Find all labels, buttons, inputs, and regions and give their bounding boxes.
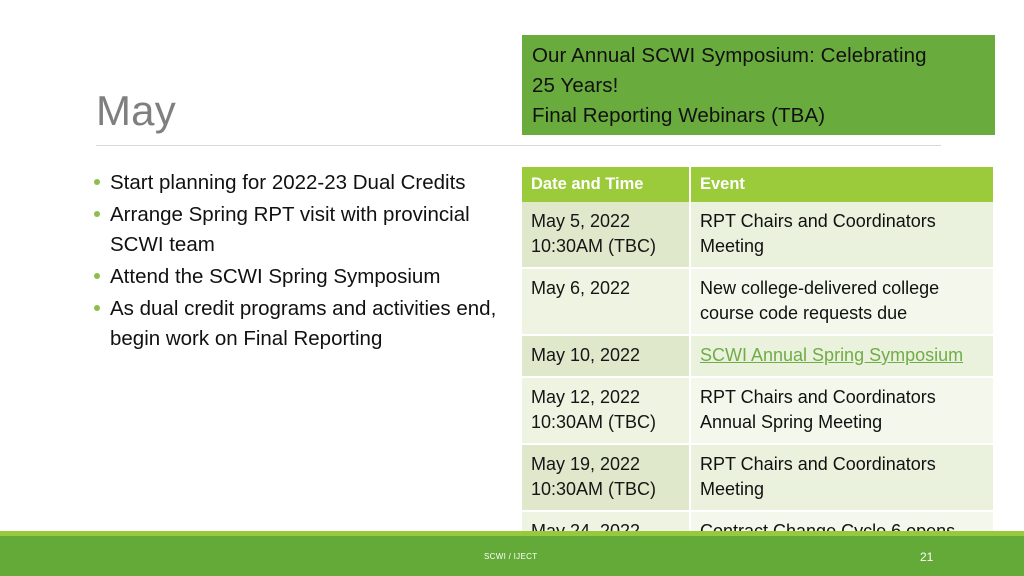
banner-line-1: Our Annual SCWI Symposium: Celebrating — [532, 41, 985, 71]
list-item: As dual credit programs and activities e… — [86, 294, 516, 354]
list-item: Arrange Spring RPT visit with provincial… — [86, 200, 516, 260]
highlight-banner: Our Annual SCWI Symposium: Celebrating 2… — [522, 35, 995, 135]
list-item-label: Arrange Spring RPT visit with provincial… — [110, 200, 516, 260]
table-row: May 12, 2022 10:30AM (TBC) RPT Chairs an… — [522, 377, 993, 444]
list-item-label: As dual credit programs and activities e… — [110, 294, 516, 354]
cell-event: RPT Chairs and Coordinators Annual Sprin… — [690, 377, 993, 444]
cell-event: SCWI Annual Spring Symposium — [690, 335, 993, 377]
list-item: Start planning for 2022-23 Dual Credits — [86, 168, 516, 198]
bullet-dot-icon — [86, 200, 110, 217]
banner-line-2: 25 Years! — [532, 71, 985, 101]
schedule-table: Date and Time Event May 5, 2022 10:30AM … — [522, 167, 993, 554]
cell-date: May 5, 2022 10:30AM (TBC) — [522, 202, 690, 268]
page-title: May — [96, 86, 176, 136]
bullet-dot-icon — [86, 262, 110, 279]
table-header-row: Date and Time Event — [522, 167, 993, 202]
cell-date: May 6, 2022 — [522, 268, 690, 335]
cell-date: May 19, 2022 10:30AM (TBC) — [522, 444, 690, 511]
banner-line-3: Final Reporting Webinars (TBA) — [532, 101, 985, 131]
cell-date: May 10, 2022 — [522, 335, 690, 377]
table-row: May 10, 2022 SCWI Annual Spring Symposiu… — [522, 335, 993, 377]
page-number: 21 — [920, 550, 933, 564]
table-row: May 19, 2022 10:30AM (TBC) RPT Chairs an… — [522, 444, 993, 511]
title-divider — [96, 145, 941, 146]
table-row: May 6, 2022 New college-delivered colleg… — [522, 268, 993, 335]
list-item-label: Start planning for 2022-23 Dual Credits — [110, 168, 516, 198]
bullet-dot-icon — [86, 168, 110, 185]
cell-date: May 12, 2022 10:30AM (TBC) — [522, 377, 690, 444]
cell-event: RPT Chairs and Coordinators Meeting — [690, 444, 993, 511]
bullet-list: Start planning for 2022-23 Dual Credits … — [86, 168, 516, 356]
cell-event: RPT Chairs and Coordinators Meeting — [690, 202, 993, 268]
list-item: Attend the SCWI Spring Symposium — [86, 262, 516, 292]
column-header-date: Date and Time — [522, 167, 690, 202]
symposium-link[interactable]: SCWI Annual Spring Symposium — [700, 345, 963, 365]
table-row: May 5, 2022 10:30AM (TBC) RPT Chairs and… — [522, 202, 993, 268]
footer-label: SCWI / IJECT — [484, 552, 537, 561]
bullet-dot-icon — [86, 294, 110, 311]
cell-event: New college-delivered college course cod… — [690, 268, 993, 335]
column-header-event: Event — [690, 167, 993, 202]
list-item-label: Attend the SCWI Spring Symposium — [110, 262, 516, 292]
